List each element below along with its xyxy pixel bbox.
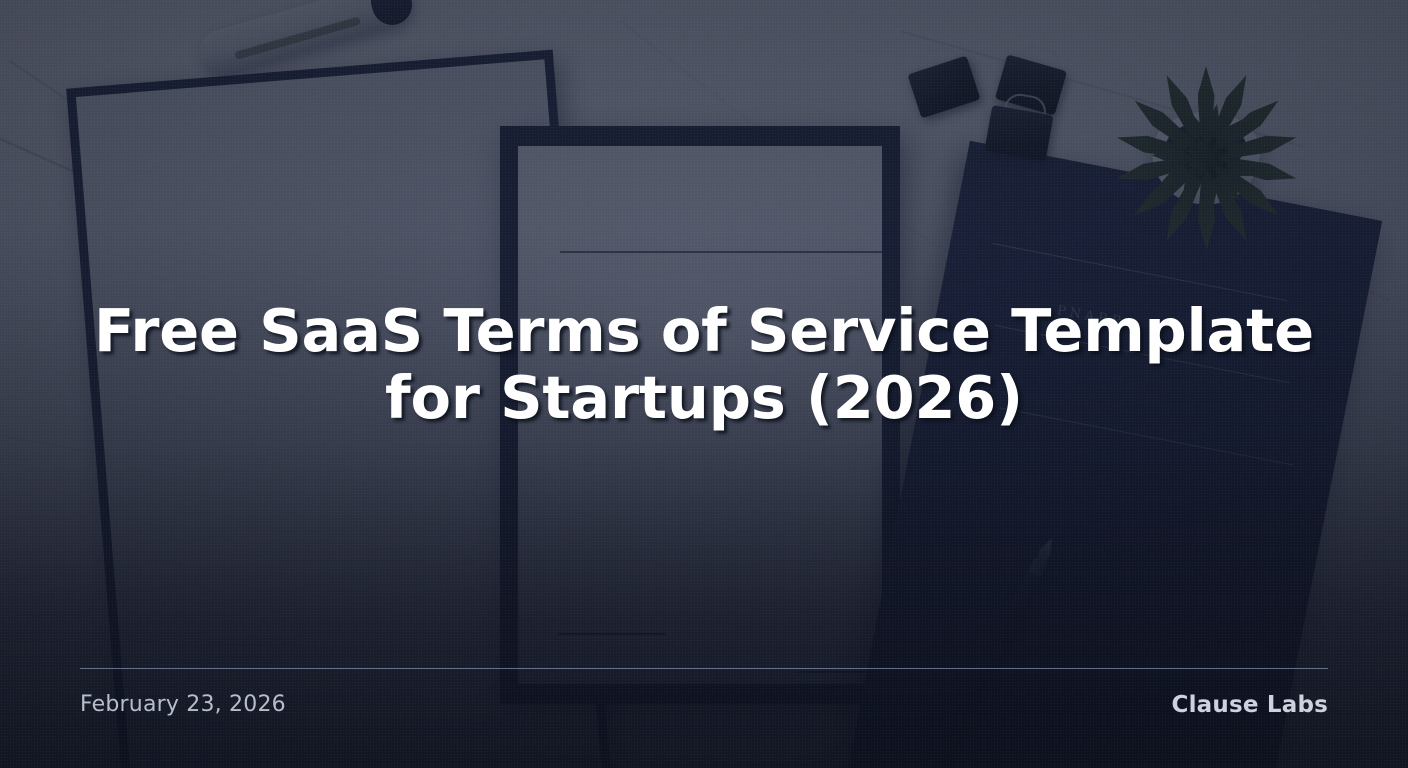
brand-name: Clause Labs [1172,692,1328,718]
page-title: Free SaaS Terms of Service Template for … [89,297,1319,472]
footer: February 23, 2026 Clause Labs [80,668,1328,740]
footer-row: February 23, 2026 Clause Labs [80,669,1328,740]
hero-card: PNARR Free SaaS [0,0,1408,768]
publish-date: February 23, 2026 [80,692,286,717]
hero-content: Free SaaS Terms of Service Template for … [0,0,1408,768]
